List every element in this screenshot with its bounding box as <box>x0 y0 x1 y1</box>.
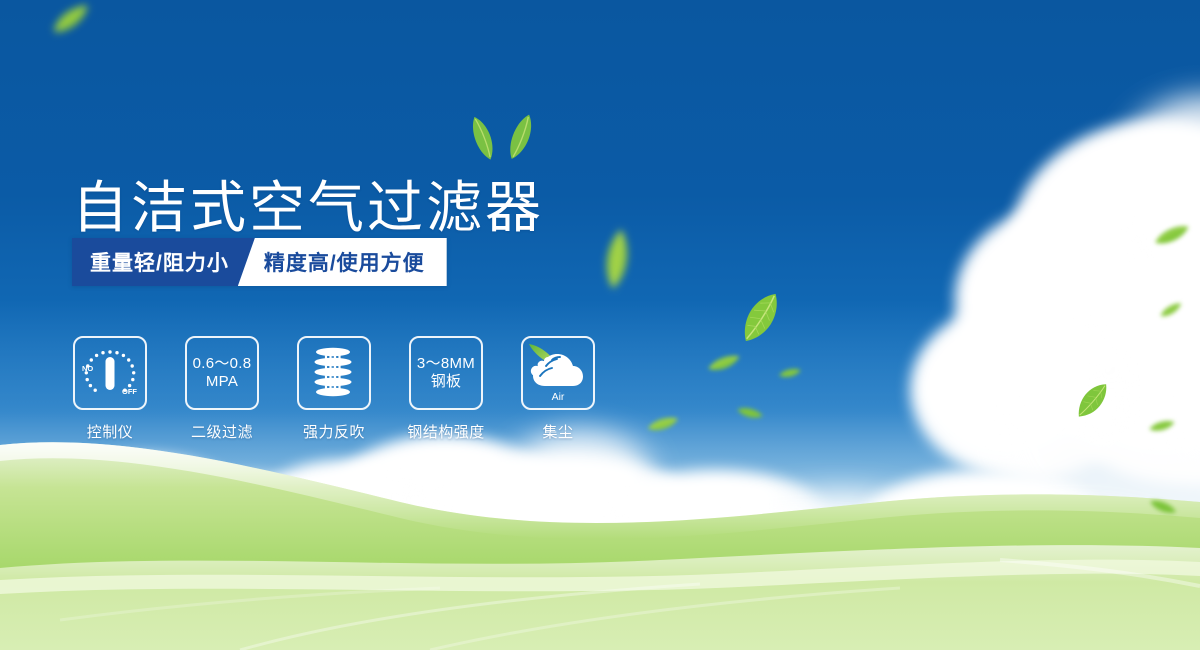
gauge-icon: NO OFF <box>78 344 142 402</box>
plate-thickness-text: 3〜8MM <box>417 355 475 373</box>
cloud-puff <box>255 460 435 560</box>
feature-item[interactable]: NO OFF 控制仪 <box>72 336 148 442</box>
cloud-puff <box>1010 120 1200 370</box>
cloud-puff <box>1000 330 1200 540</box>
floating-leaf-icon <box>598 226 636 292</box>
sprout-leaf-left-icon <box>462 111 504 165</box>
feature-label: 控制仪 <box>87 421 134 442</box>
floating-leaf-icon <box>645 411 682 437</box>
floating-leaf-icon <box>734 399 767 426</box>
cloud-puff <box>1150 300 1200 490</box>
floating-leaf-icon <box>704 348 744 378</box>
cloud-puff <box>955 205 1175 395</box>
feature-icon-box: NO OFF <box>73 336 147 410</box>
cloud-puff <box>430 455 700 575</box>
tagline-ribbon: 重量轻/阻力小 精度高/使用方便 <box>72 238 447 286</box>
floating-leaf-icon <box>723 279 797 355</box>
feature-list: NO OFF 控制仪 0.6〜0.8 MPA 二级过滤 <box>72 336 596 442</box>
cloud-puff <box>330 435 560 565</box>
floating-leaf-icon <box>1147 416 1177 436</box>
cloud-puff <box>150 475 340 570</box>
cloud-puff <box>910 300 1140 480</box>
cloud-puff <box>505 430 655 525</box>
floating-leaf-icon <box>1156 297 1186 322</box>
tagline-right: 精度高/使用方便 <box>238 238 447 286</box>
tagline-left: 重量轻/阻力小 <box>72 238 255 286</box>
feature-label: 集尘 <box>542 421 573 442</box>
cloud-puff <box>0 470 140 570</box>
floating-leaf-icon <box>1146 492 1181 523</box>
air-cloud-icon: Air <box>525 342 591 404</box>
plate-material-text: 钢板 <box>431 373 462 391</box>
cloud-puff <box>860 470 1110 580</box>
feature-icon-box: 3〜8MM 钢板 <box>409 336 483 410</box>
floating-leaf-icon <box>1150 218 1195 251</box>
feature-item[interactable]: 强力反吹 <box>296 336 372 442</box>
feature-label: 钢结构强度 <box>407 421 485 442</box>
sprout-leaf-right-icon <box>500 109 542 165</box>
air-label: Air <box>552 391 565 403</box>
gauge-no-label: NO <box>82 364 93 373</box>
feature-icon-box: 0.6〜0.8 MPA <box>185 336 259 410</box>
cloud-puff <box>600 470 830 570</box>
cloud-puff <box>690 520 950 600</box>
floating-leaf-icon <box>777 365 802 381</box>
cloud-puff <box>740 490 940 580</box>
feature-item[interactable]: 0.6〜0.8 MPA 二级过滤 <box>184 336 260 442</box>
feature-icon-box <box>297 336 371 410</box>
pressure-range-text: 0.6〜0.8 <box>193 355 252 373</box>
feature-label: 强力反吹 <box>303 421 365 442</box>
pressure-unit-text: MPA <box>206 373 238 391</box>
cloud-puff <box>30 455 250 565</box>
feature-label: 二级过滤 <box>191 421 253 442</box>
feature-item[interactable]: Air 集尘 <box>520 336 596 442</box>
hero-banner: 自洁式空气过滤器 重量轻/阻力小 精度高/使用方便 <box>0 0 1200 650</box>
feature-icon-box: Air <box>521 336 595 410</box>
floating-leaf-icon <box>43 0 100 45</box>
filter-cartridge-icon <box>308 345 360 401</box>
floating-leaf-icon <box>1059 368 1124 433</box>
cloud-puff <box>960 510 1190 590</box>
cloud-puff <box>1120 95 1200 235</box>
page-title: 自洁式空气过滤器 <box>72 180 544 236</box>
cloud-puff <box>1095 150 1200 350</box>
gauge-off-label: OFF <box>122 387 137 396</box>
cloud-puff <box>1040 255 1200 485</box>
feature-item[interactable]: 3〜8MM 钢板 钢结构强度 <box>408 336 484 442</box>
